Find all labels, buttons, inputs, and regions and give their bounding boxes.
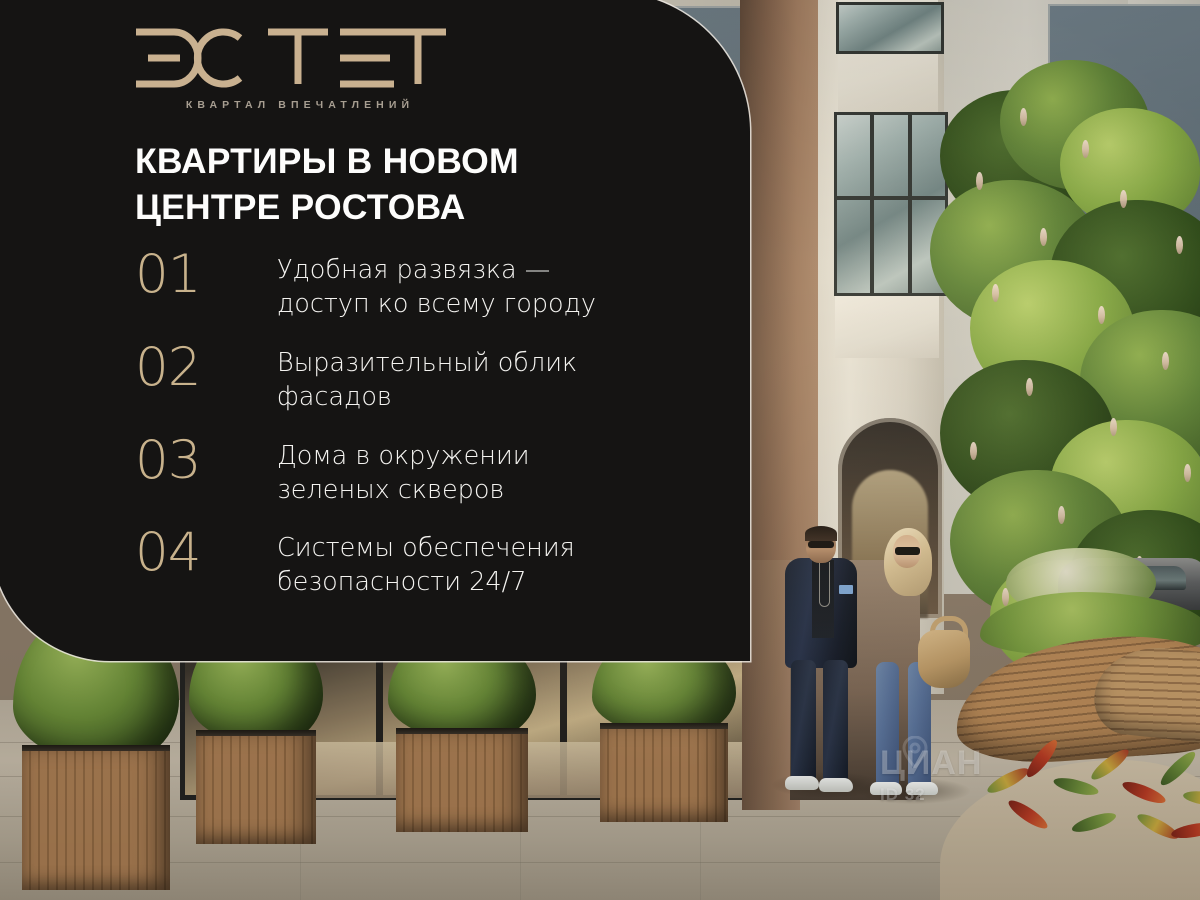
brand-tagline: КВАРТАЛ ВПЕЧАТЛЕНИЙ <box>132 99 462 111</box>
planter-4 <box>600 652 728 822</box>
facade-panel-mid <box>835 296 939 358</box>
window-mullion-v2 <box>908 112 912 296</box>
planter-3 <box>396 652 528 832</box>
window-mullion-v1 <box>870 112 874 296</box>
brand-logo: КВАРТАЛ ВПЕЧАТЛЕНИЙ <box>132 26 462 111</box>
map-pin-icon <box>902 736 928 773</box>
window-left-upper <box>836 2 944 54</box>
feature-list: 01 Удобная развязка — доступ ко всему го… <box>135 250 715 600</box>
feature-item: 03 Дома в окружении зеленых скверов <box>135 436 715 508</box>
feature-number: 03 <box>135 436 277 487</box>
planter-2 <box>196 648 316 844</box>
page-title: КВАРТИРЫ В НОВОМ ЦЕНТРЕ РОСТОВА <box>135 138 519 230</box>
info-card: КВАРТАЛ ВПЕЧАТЛЕНИЙ КВАРТИРЫ В НОВОМ ЦЕН… <box>0 0 750 661</box>
feature-number: 01 <box>135 250 277 301</box>
feature-item: 01 Удобная развязка — доступ ко всему го… <box>135 250 715 322</box>
feature-text: Дома в окружении зеленых скверов <box>277 436 715 508</box>
planter-1 <box>22 640 170 890</box>
feature-text: Системы обеспечения безопасности 24/7 <box>277 528 715 600</box>
feature-item: 02 Выразительный облик фасадов <box>135 343 715 415</box>
feature-number: 04 <box>135 528 277 579</box>
feature-text: Выразительный облик фасадов <box>277 343 715 415</box>
feature-item: 04 Системы обеспечения безопасности 24/7 <box>135 528 715 600</box>
promo-banner: ЦИАН ID 32 <box>0 0 1200 900</box>
feature-text: Удобная развязка — доступ ко всему город… <box>277 250 715 322</box>
croton-plants <box>975 700 1200 850</box>
feature-number: 02 <box>135 343 277 394</box>
estet-wordmark-icon <box>132 26 450 90</box>
